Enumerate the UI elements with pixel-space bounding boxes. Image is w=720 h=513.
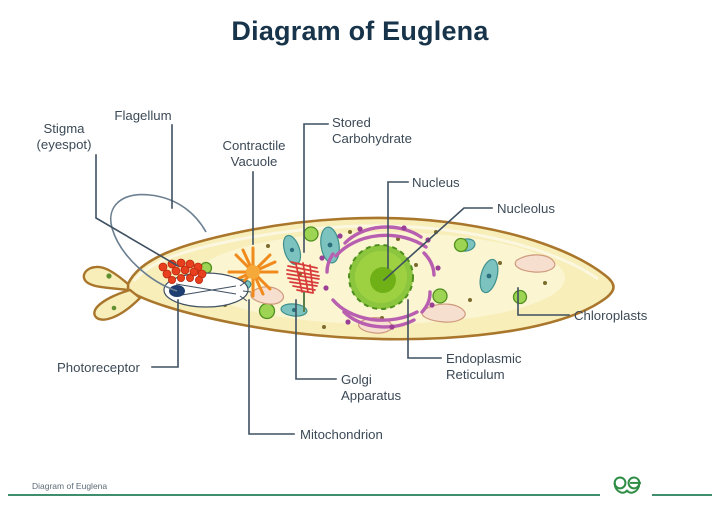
label-endoplasmic-reticulum: Endoplasmic Reticulum [446,351,522,383]
footer-rule-right [652,494,712,496]
label-stored-carbohydrate: Stored Carbohydrate [332,115,412,147]
nucleus [349,245,413,309]
anterior-granule [106,273,111,278]
label-nucleolus: Nucleolus [497,201,555,217]
label-nucleus: Nucleus [412,175,460,191]
label-golgi-apparatus: Golgi Apparatus [341,372,401,404]
anterior-granule [112,306,117,311]
label-photoreceptor: Photoreceptor [57,360,140,376]
leader-stigma [96,155,178,266]
contractile-vacuole-center [246,265,260,279]
label-chloroplasts: Chloroplasts [574,308,647,324]
diagram-page: Diagram of Euglena [0,0,720,513]
footer-rule [8,494,600,496]
footer: Diagram of Euglena [0,465,720,513]
geeksforgeeks-logo [610,473,644,499]
footer-caption: Diagram of Euglena [32,481,107,491]
label-stigma: Stigma (eyespot) [18,121,110,153]
label-contractile-vacuole: Contractile Vacuole [202,138,306,170]
label-mitochondrion: Mitochondrion [300,427,383,443]
label-flagellum: Flagellum [95,108,191,124]
